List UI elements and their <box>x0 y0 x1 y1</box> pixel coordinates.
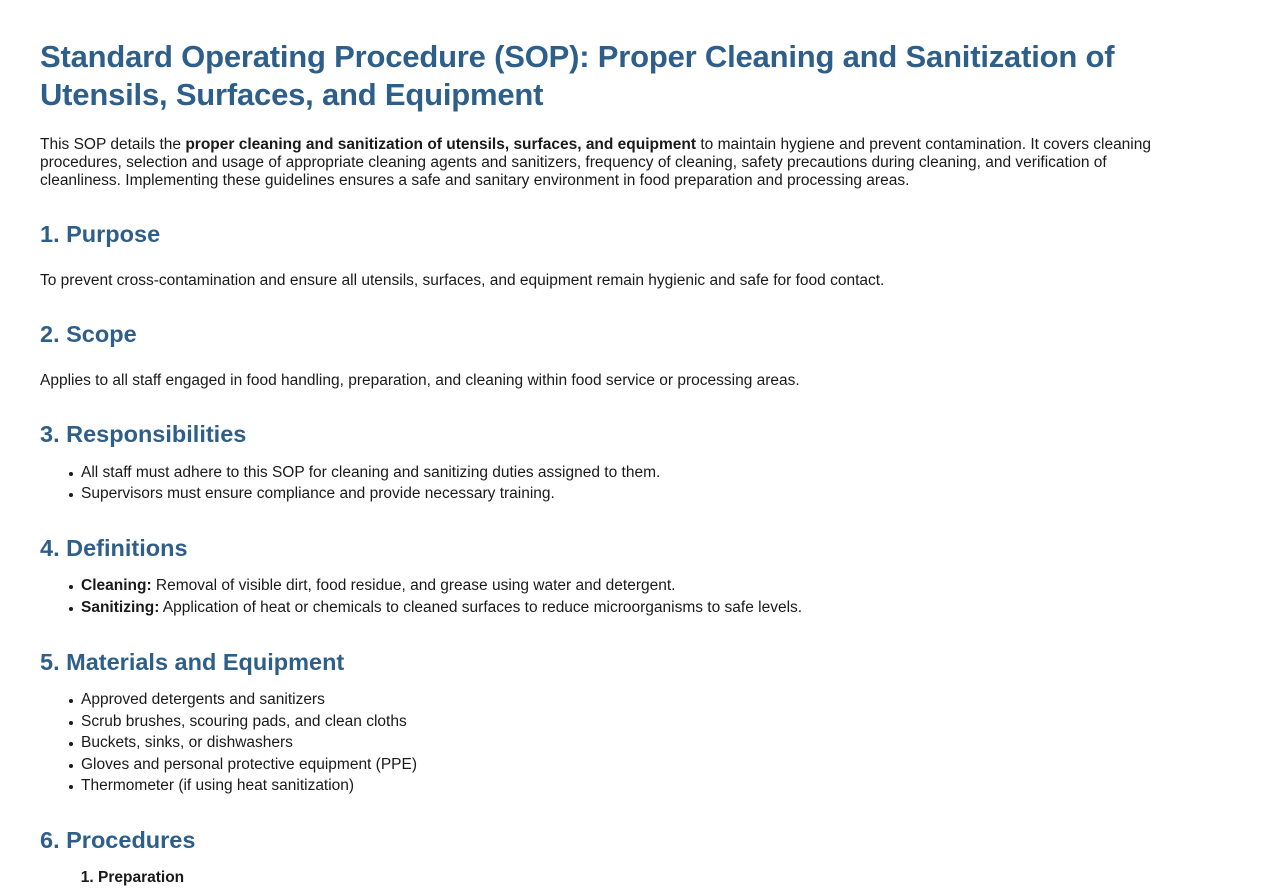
section-heading-materials: 5. Materials and Equipment <box>40 648 1223 677</box>
list-item: All staff must adhere to this SOP for cl… <box>81 464 1223 483</box>
intro-paragraph: This SOP details the proper cleaning and… <box>40 136 1190 191</box>
list-item: Cleaning: Removal of visible dirt, food … <box>81 577 1223 596</box>
section-text-scope: Applies to all staff engaged in food han… <box>40 372 1223 391</box>
procedures-list: Preparation <box>40 869 1223 888</box>
definition-term: Sanitizing: <box>81 599 159 616</box>
list-item: Thermometer (if using heat sanitization) <box>81 777 1223 796</box>
definitions-list: Cleaning: Removal of visible dirt, food … <box>40 577 1223 617</box>
list-item: Gloves and personal protective equipment… <box>81 756 1223 775</box>
document-page: Standard Operating Procedure (SOP): Prop… <box>0 0 1263 888</box>
section-text-purpose: To prevent cross-contamination and ensur… <box>40 272 1223 291</box>
section-heading-purpose: 1. Purpose <box>40 220 1223 249</box>
list-item: Preparation <box>98 869 1223 888</box>
list-item: Sanitizing: Application of heat or chemi… <box>81 599 1223 618</box>
intro-bold-phrase: proper cleaning and sanitization of uten… <box>185 136 696 153</box>
definition-text: Application of heat or chemicals to clea… <box>159 599 802 616</box>
materials-list: Approved detergents and sanitizers Scrub… <box>40 691 1223 796</box>
definition-term: Cleaning: <box>81 577 152 594</box>
responsibilities-list: All staff must adhere to this SOP for cl… <box>40 464 1223 504</box>
section-heading-procedures: 6. Procedures <box>40 826 1223 855</box>
section-heading-definitions: 4. Definitions <box>40 534 1223 563</box>
list-item: Scrub brushes, scouring pads, and clean … <box>81 713 1223 732</box>
section-heading-responsibilities: 3. Responsibilities <box>40 420 1223 449</box>
section-heading-scope: 2. Scope <box>40 320 1223 349</box>
list-item: Approved detergents and sanitizers <box>81 691 1223 710</box>
definition-text: Removal of visible dirt, food residue, a… <box>152 577 676 594</box>
list-item: Supervisors must ensure compliance and p… <box>81 485 1223 504</box>
page-title: Standard Operating Procedure (SOP): Prop… <box>40 0 1223 114</box>
intro-before-bold: This SOP details the <box>40 136 185 153</box>
list-item: Buckets, sinks, or dishwashers <box>81 734 1223 753</box>
